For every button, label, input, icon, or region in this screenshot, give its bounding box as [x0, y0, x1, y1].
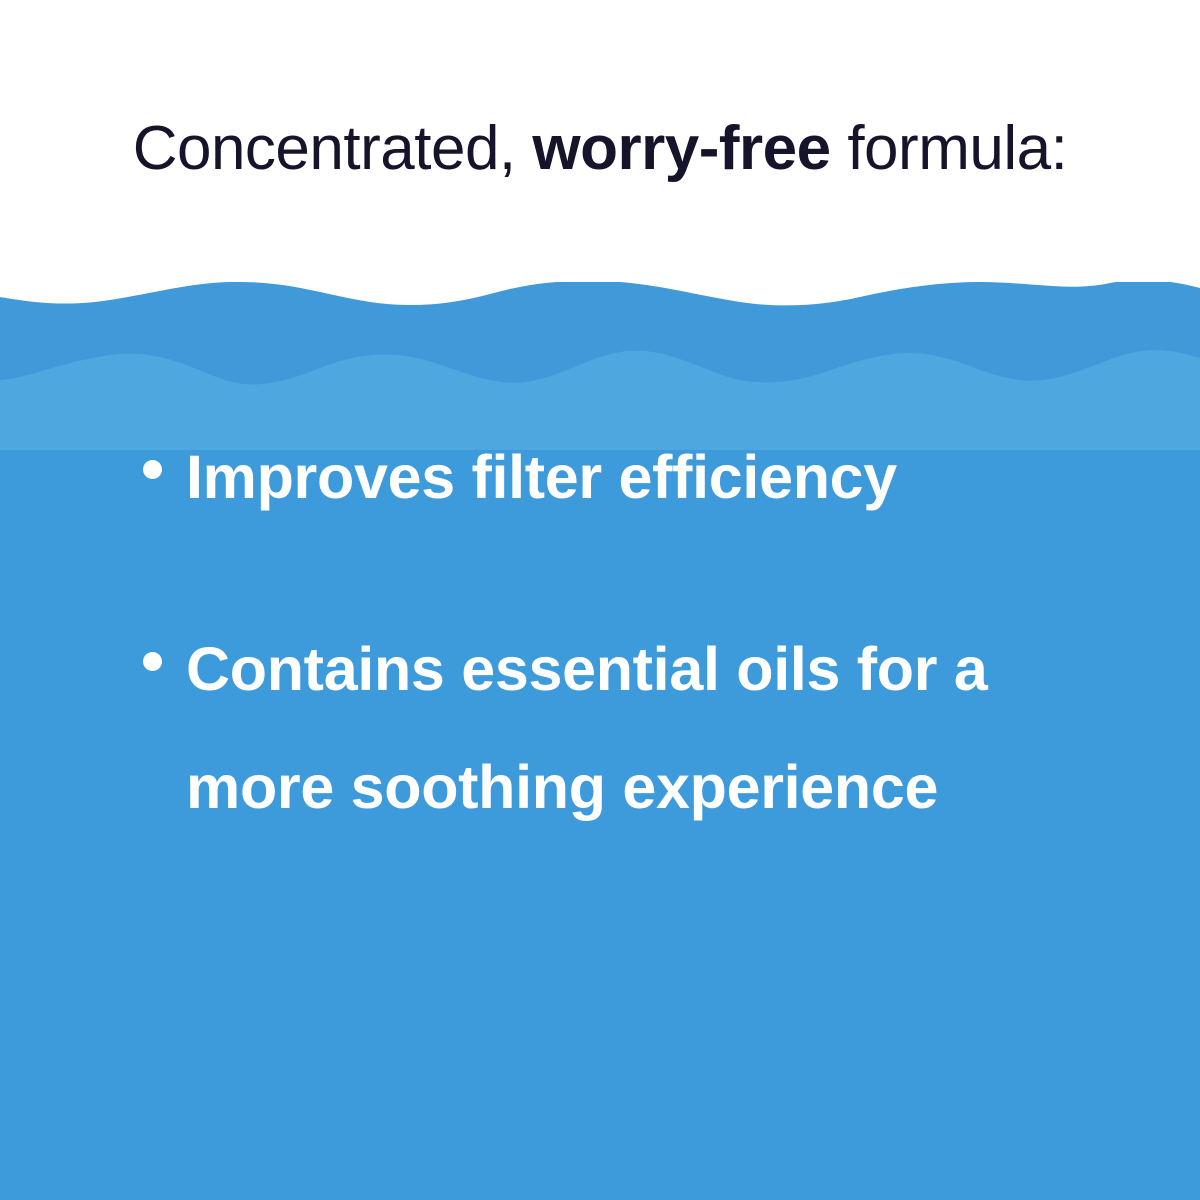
bullet-dot-icon	[143, 460, 162, 479]
bullet-label: Improves filter efficiency	[186, 418, 1060, 536]
headline-trail: formula:	[831, 114, 1068, 183]
bullet-dot-icon	[143, 652, 162, 671]
headline-lead: Concentrated,	[133, 114, 533, 183]
feature-bullet-list: Improves filter efficiency Contains esse…	[0, 418, 1200, 846]
headline-band: Concentrated, worry-free formula:	[0, 0, 1200, 282]
headline-emphasis: worry-free	[532, 114, 830, 183]
page-title: Concentrated, worry-free formula:	[0, 112, 1200, 186]
product-feature-card: Concentrated, worry-free formula: Improv…	[0, 0, 1200, 1200]
list-item: Contains essential oils for a more sooth…	[0, 610, 1200, 846]
bullet-label: Contains essential oils for a more sooth…	[186, 610, 1060, 846]
list-item: Improves filter efficiency	[0, 418, 1200, 536]
